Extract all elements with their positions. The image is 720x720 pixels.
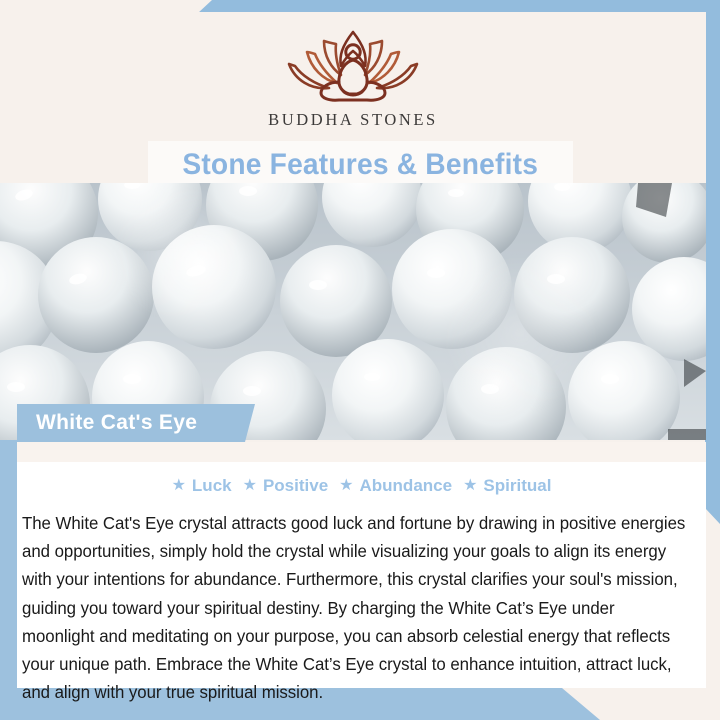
section-title-banner: Stone Features & Benefits <box>148 141 573 188</box>
keyword-item: ★ Abundance <box>339 476 452 496</box>
stone-name-label: White Cat's Eye <box>36 411 197 435</box>
product-info-card: BUDDHA STONES Stone Features & Benefits <box>0 0 720 720</box>
keyword-list: ★ Luck ★ Positive ★ Abundance ★ Spiritua… <box>17 476 706 496</box>
content-top-strip <box>17 442 706 462</box>
stone-name-chip: White Cat's Eye <box>17 404 255 442</box>
lotus-meditation-figure-icon <box>269 26 437 104</box>
keyword-label: Luck <box>192 476 232 496</box>
star-icon: ★ <box>172 478 186 494</box>
page-title: Stone Features & Benefits <box>183 148 539 182</box>
star-icon: ★ <box>339 478 353 494</box>
keyword-item: ★ Positive <box>243 476 329 496</box>
content-panel: ★ Luck ★ Positive ★ Abundance ★ Spiritua… <box>17 442 706 688</box>
stone-description: The White Cat's Eye crystal attracts goo… <box>22 510 687 707</box>
brand-logo: BUDDHA STONES <box>0 26 706 130</box>
white-cats-eye-stones-illustration <box>0 183 706 440</box>
keyword-label: Spiritual <box>483 476 551 496</box>
star-icon: ★ <box>463 478 477 494</box>
keyword-item: ★ Luck <box>172 476 232 496</box>
star-icon: ★ <box>243 478 257 494</box>
keyword-label: Abundance <box>360 476 453 496</box>
brand-name: BUDDHA STONES <box>268 110 438 130</box>
hero-image <box>0 183 706 440</box>
keyword-item: ★ Spiritual <box>463 476 551 496</box>
decor-right-blue-band <box>705 0 720 524</box>
keyword-label: Positive <box>263 476 328 496</box>
header-panel: BUDDHA STONES Stone Features & Benefits <box>0 12 706 184</box>
